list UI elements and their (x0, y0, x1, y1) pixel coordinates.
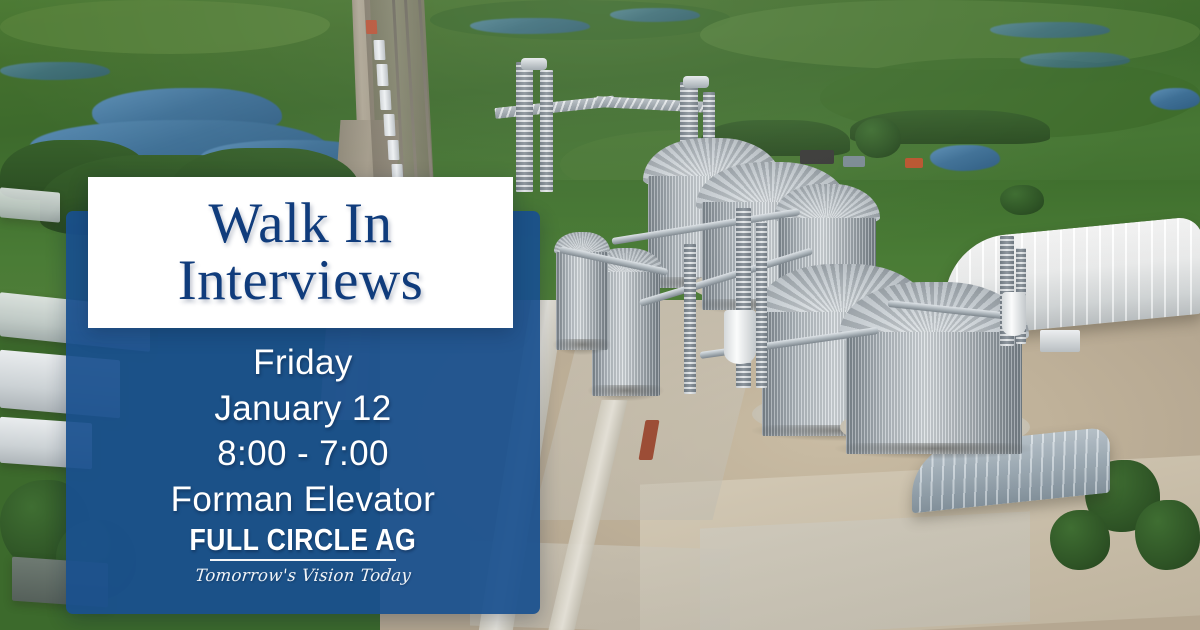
title-card: Walk In Interviews (88, 177, 513, 328)
detail-hours: 8:00 - 7:00 (66, 431, 540, 477)
title-line-2: Interviews (178, 253, 424, 309)
logo-tagline: Tomorrow's Vision Today (194, 566, 412, 586)
detail-day: Friday (66, 340, 540, 386)
promo-poster: Walk In Interviews Friday January 12 8:0… (0, 0, 1200, 630)
event-details: Friday January 12 8:00 - 7:00 Forman Ele… (66, 340, 540, 522)
detail-location: Forman Elevator (66, 477, 540, 523)
detail-date: January 12 (66, 386, 540, 432)
logo-divider (210, 559, 396, 561)
logo-wordmark: FULL CIRCLE AG (190, 524, 417, 555)
company-logo: FULL CIRCLE AG Tomorrow's Vision Today (66, 524, 540, 586)
title-line-1: Walk In (208, 196, 392, 252)
